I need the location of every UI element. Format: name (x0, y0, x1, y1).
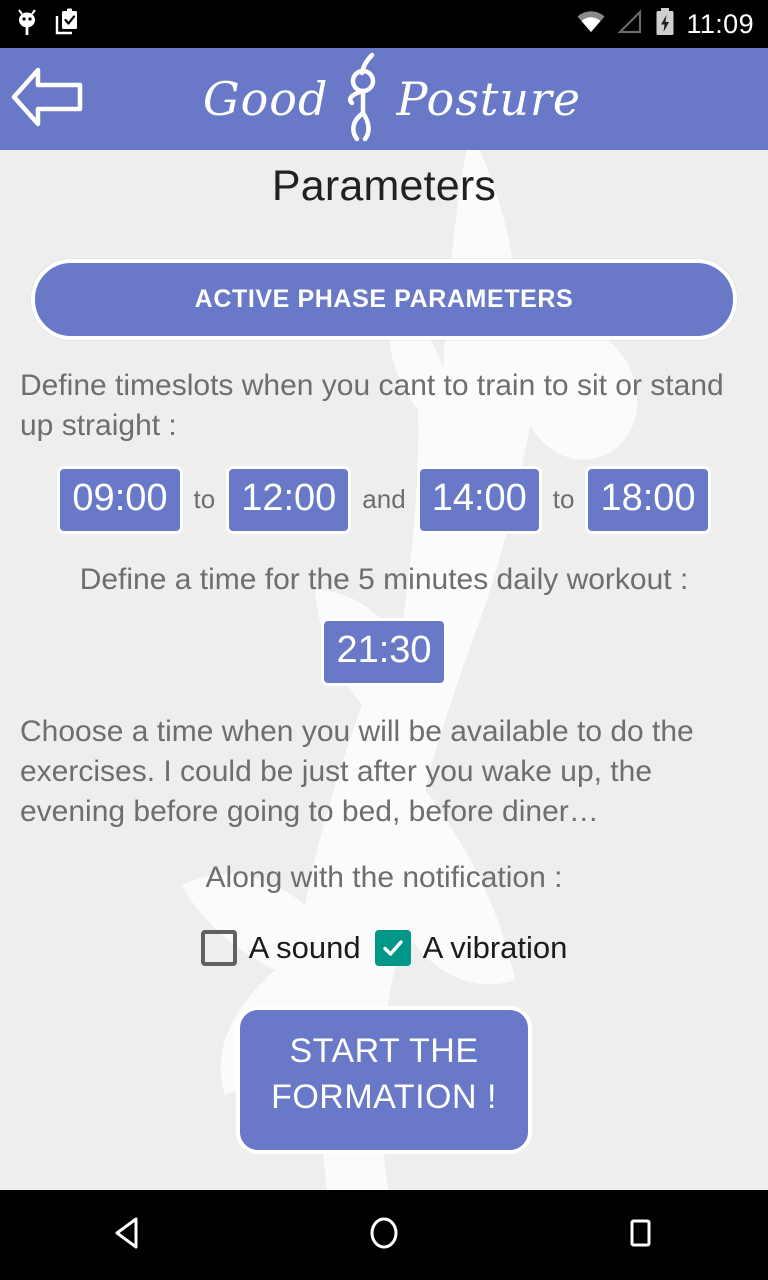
sound-option[interactable]: A sound (201, 930, 361, 966)
cta-line-1: START THE (250, 1028, 518, 1074)
cell-signal-icon (616, 9, 644, 40)
timeslot-start-1[interactable]: 09:00 (57, 466, 182, 534)
clipboard-check-icon (54, 7, 80, 42)
timeslot-end-1[interactable]: 12:00 (226, 466, 351, 534)
timeslots-chip-row: 09:00 to 12:00 and 14:00 to 18:00 (0, 466, 768, 534)
vibration-label: A vibration (423, 930, 568, 966)
brand-word-good: Good (203, 76, 329, 122)
active-phase-parameters-button[interactable]: ACTIVE PHASE PARAMETERS (31, 259, 737, 340)
page-title: Parameters (0, 150, 768, 211)
cta-line-2: FORMATION ! (250, 1074, 518, 1120)
workout-description: Define a time for the 5 minutes daily wo… (0, 560, 768, 600)
sound-checkbox[interactable] (201, 930, 237, 966)
status-bar: 11:09 (0, 0, 768, 48)
page-content: Parameters ACTIVE PHASE PARAMETERS Defin… (0, 150, 768, 1190)
checkmark-icon (380, 935, 406, 961)
sound-label: A sound (249, 930, 361, 966)
workout-time[interactable]: 21:30 (321, 618, 446, 686)
vibration-checkbox[interactable] (375, 930, 411, 966)
timeslot-start-2[interactable]: 14:00 (417, 466, 542, 534)
nav-home-button[interactable] (324, 1190, 444, 1280)
nav-back-icon (111, 1214, 145, 1257)
nav-recents-button[interactable] (580, 1190, 700, 1280)
status-bar-left-icons (14, 7, 80, 42)
nav-recents-icon (624, 1214, 656, 1257)
notification-options: A sound A vibration (0, 930, 768, 966)
timeslot-conjunction-and: and (362, 484, 405, 515)
cta-wrapper: START THE FORMATION ! (0, 1006, 768, 1154)
wifi-icon (576, 9, 606, 40)
timeslot-conjunction-to-2: to (553, 484, 575, 515)
android-bug-icon (14, 7, 40, 42)
back-button[interactable] (0, 48, 96, 150)
timeslot-conjunction-to-1: to (194, 484, 216, 515)
vibration-option[interactable]: A vibration (375, 930, 568, 966)
battery-charging-icon (654, 7, 676, 42)
status-bar-right-icons: 11:09 (576, 7, 754, 42)
app-bar: Good Posture (0, 48, 768, 150)
status-bar-clock: 11:09 (686, 11, 754, 38)
timeslots-description: Define timeslots when you cant to train … (0, 366, 768, 446)
phone-screen: 11:09 Good (0, 0, 768, 1280)
timeslot-end-2[interactable]: 18:00 (585, 466, 710, 534)
posture-figure-icon (332, 51, 392, 148)
brand-word-posture: Posture (396, 76, 581, 122)
nav-home-icon (366, 1213, 402, 1258)
notification-heading: Along with the notification : (0, 858, 768, 898)
nav-back-button[interactable] (68, 1190, 188, 1280)
back-arrow-icon (10, 66, 86, 133)
start-formation-button[interactable]: START THE FORMATION ! (236, 1006, 532, 1154)
android-nav-bar (0, 1190, 768, 1280)
workout-chip-row: 21:30 (0, 618, 768, 686)
brand-logo: Good Posture (96, 51, 688, 148)
workout-hint: Choose a time when you will be available… (0, 712, 768, 832)
